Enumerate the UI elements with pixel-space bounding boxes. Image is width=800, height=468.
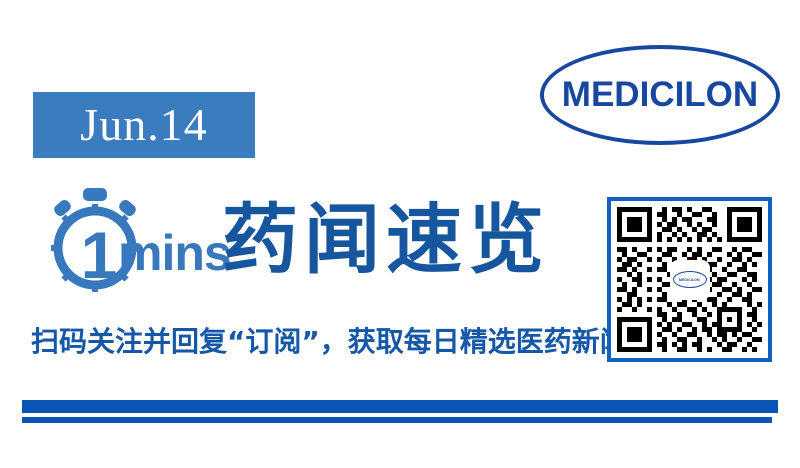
bottom-bar-thick	[22, 400, 778, 413]
headline: 药闻速览	[222, 202, 550, 278]
qr-center-logo: MEDICILON	[670, 260, 710, 300]
poster-canvas: Jun.14 MEDICILON	[0, 0, 800, 468]
qr-center-logo-ellipse-icon: MEDICILON	[673, 271, 707, 288]
date-badge-label: Jun.14	[80, 102, 207, 148]
brand-logo-label: MEDICILON	[540, 45, 780, 145]
mins-label: mins	[118, 228, 231, 278]
subtitle: 扫码关注并回复“订阅”，获取每日精选医药新闻	[31, 327, 628, 358]
brand-logo: MEDICILON	[540, 45, 780, 145]
qr-center-logo-label: MEDICILON	[679, 277, 700, 282]
qr-code-inner: MEDICILON	[617, 207, 762, 352]
bottom-bar-thin	[22, 417, 772, 423]
stopwatch-digit: 1	[81, 218, 118, 292]
date-badge: Jun.14	[33, 92, 255, 158]
qr-code[interactable]: MEDICILON	[607, 197, 772, 362]
